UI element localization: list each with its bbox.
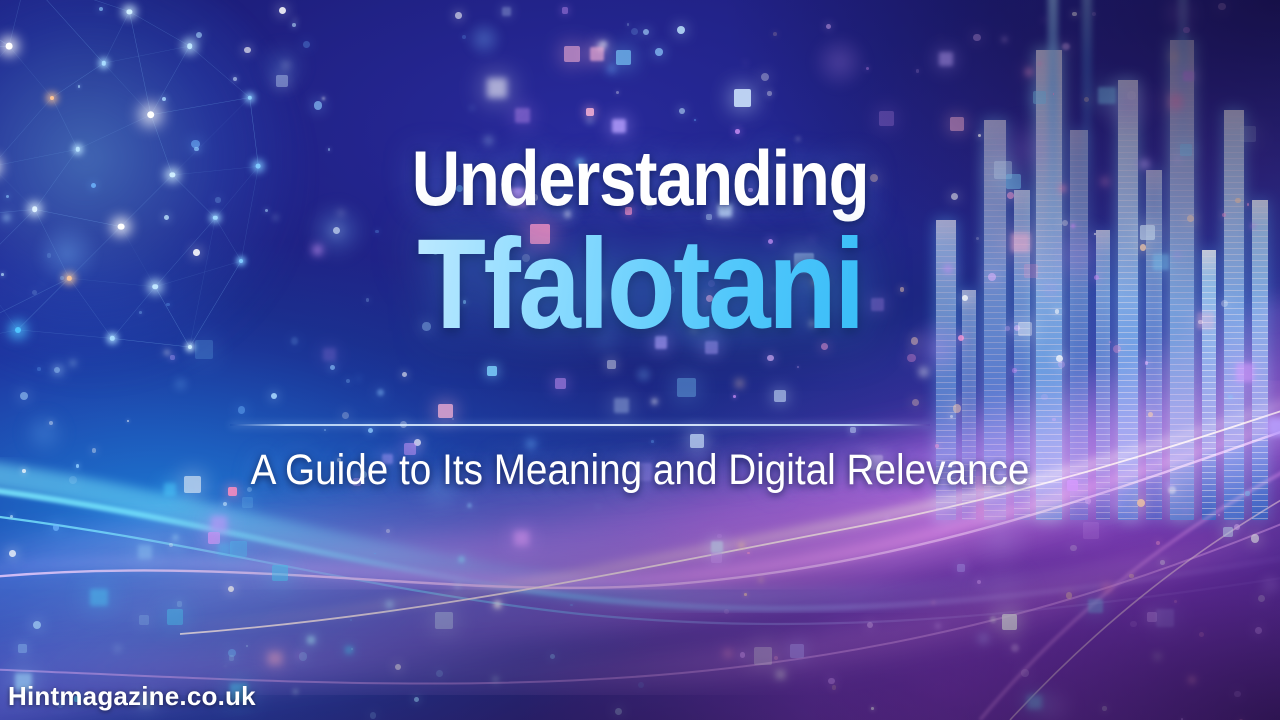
particle-dot bbox=[246, 645, 248, 647]
particle-dot bbox=[294, 690, 297, 693]
pixel-square bbox=[677, 378, 696, 397]
particle-dot bbox=[330, 365, 335, 370]
particle-dot bbox=[1102, 706, 1106, 710]
pixel-square bbox=[612, 119, 626, 133]
pixel-square bbox=[167, 609, 183, 625]
pixel-square bbox=[494, 601, 501, 608]
particle-dot bbox=[346, 379, 350, 383]
particle-dot bbox=[455, 12, 462, 19]
pixel-square bbox=[173, 535, 178, 540]
particle-dot bbox=[745, 62, 747, 64]
pixel-square bbox=[230, 541, 246, 557]
network-node bbox=[127, 9, 132, 14]
particle-dot bbox=[907, 354, 915, 362]
pixel-square bbox=[1083, 522, 1100, 539]
particle-dot bbox=[774, 656, 778, 660]
pixel-square bbox=[879, 111, 894, 126]
particle-dot bbox=[737, 381, 742, 386]
particle-dot bbox=[471, 107, 473, 109]
pixel-square bbox=[487, 366, 497, 376]
particle-dot bbox=[739, 543, 744, 548]
pixel-square bbox=[502, 7, 511, 16]
particle-dot bbox=[643, 29, 649, 35]
particle-dot bbox=[9, 550, 16, 557]
particle-dot bbox=[454, 583, 461, 590]
particle-dot bbox=[370, 712, 377, 719]
pixel-square bbox=[307, 636, 315, 644]
bokeh-blob bbox=[23, 412, 64, 453]
particle-dot bbox=[350, 619, 352, 621]
pixel-square bbox=[774, 390, 786, 402]
pixel-square bbox=[734, 89, 752, 107]
particle-dot bbox=[1251, 534, 1259, 542]
pixel-square bbox=[754, 647, 772, 665]
particle-dot bbox=[377, 389, 384, 396]
particle-dot bbox=[1255, 627, 1262, 634]
particle-dot bbox=[386, 601, 393, 608]
pixel-square bbox=[435, 612, 452, 629]
particle-dot bbox=[462, 35, 466, 39]
pixel-square bbox=[562, 7, 569, 14]
pixel-square bbox=[921, 369, 927, 375]
bokeh-blob bbox=[1031, 685, 1075, 720]
pixel-square bbox=[229, 655, 234, 660]
pixel-square bbox=[268, 652, 282, 666]
particle-dot bbox=[342, 412, 349, 419]
pixel-square bbox=[586, 108, 594, 116]
particle-dot bbox=[1130, 621, 1137, 628]
particle-dot bbox=[627, 23, 629, 25]
particle-dot bbox=[740, 652, 745, 657]
particle-dot bbox=[1156, 541, 1160, 545]
particle-dot bbox=[977, 580, 982, 585]
particle-dot bbox=[550, 654, 555, 659]
particle-dot bbox=[717, 534, 722, 539]
particle-dot bbox=[828, 678, 834, 684]
particle-dot bbox=[223, 502, 227, 506]
pixel-square bbox=[18, 644, 27, 653]
banner-image: Understanding Tfalotani A Guide to Its M… bbox=[0, 0, 1280, 720]
site-watermark: Hintmagazine.co.uk bbox=[8, 681, 256, 712]
particle-dot bbox=[436, 670, 443, 677]
pixel-square bbox=[487, 78, 507, 98]
pixel-square bbox=[515, 108, 530, 123]
pixel-square bbox=[211, 516, 227, 532]
particle-dot bbox=[631, 28, 638, 35]
pixel-square bbox=[1088, 599, 1103, 614]
pixel-square bbox=[297, 652, 303, 658]
particle-dot bbox=[832, 685, 836, 689]
network-node bbox=[101, 61, 105, 65]
particle-dot bbox=[826, 24, 831, 29]
particle-dot bbox=[228, 586, 234, 592]
pixel-square bbox=[1223, 527, 1233, 537]
particle-dot bbox=[1155, 654, 1160, 659]
particle-dot bbox=[916, 69, 919, 72]
pixel-square bbox=[616, 50, 631, 65]
particle-dot bbox=[597, 506, 599, 508]
pixel-square bbox=[564, 46, 580, 62]
network-node bbox=[6, 43, 13, 50]
title-block: Understanding Tfalotani bbox=[0, 140, 1280, 347]
bokeh-blob bbox=[633, 364, 654, 385]
particle-dot bbox=[744, 593, 747, 596]
particle-dot bbox=[747, 552, 750, 555]
pixel-square bbox=[957, 564, 965, 572]
particle-dot bbox=[467, 503, 472, 508]
particle-dot bbox=[724, 609, 729, 614]
subtitle-text: A Guide to Its Meaning and Digital Relev… bbox=[64, 446, 1216, 495]
particle-dot bbox=[1258, 595, 1265, 602]
pixel-square bbox=[139, 615, 149, 625]
particle-dot bbox=[351, 648, 353, 650]
network-node bbox=[187, 43, 193, 49]
particle-dot bbox=[368, 428, 373, 433]
particle-dot bbox=[22, 469, 26, 473]
particle-dot bbox=[1199, 632, 1204, 637]
pixel-square bbox=[438, 404, 453, 419]
particle-dot bbox=[493, 677, 498, 682]
particle-dot bbox=[616, 91, 619, 94]
bokeh-blob bbox=[169, 538, 187, 556]
particle-dot bbox=[395, 664, 402, 671]
particle-dot bbox=[169, 543, 173, 547]
particle-dot bbox=[886, 517, 889, 520]
particle-dot bbox=[1070, 545, 1077, 552]
pixel-square bbox=[138, 545, 153, 560]
particle-dot bbox=[238, 406, 245, 413]
particle-dot bbox=[127, 420, 129, 422]
bokeh-blob bbox=[1257, 572, 1280, 599]
particle-dot bbox=[1021, 669, 1029, 677]
pixel-square bbox=[790, 644, 804, 658]
particle-dot bbox=[458, 556, 465, 563]
particle-dot bbox=[386, 529, 390, 533]
pixel-square bbox=[711, 552, 722, 563]
particle-dot bbox=[271, 393, 277, 399]
light-beam bbox=[1178, 0, 1188, 160]
particle-dot bbox=[932, 601, 935, 604]
pixel-square bbox=[345, 646, 353, 654]
particle-dot bbox=[357, 377, 360, 380]
particle-dot bbox=[225, 665, 227, 667]
pixel-square bbox=[711, 541, 723, 553]
pixel-square bbox=[776, 670, 785, 679]
particle-dot bbox=[759, 578, 763, 582]
particle-dot bbox=[761, 73, 769, 81]
particle-dot bbox=[638, 682, 645, 689]
bokeh-blob bbox=[465, 20, 504, 59]
particle-dot bbox=[228, 649, 236, 657]
particle-dot bbox=[314, 101, 322, 109]
particle-dot bbox=[414, 439, 421, 446]
particle-dot bbox=[601, 41, 607, 47]
particle-dot bbox=[115, 646, 119, 650]
particle-dot bbox=[402, 372, 407, 377]
particle-dot bbox=[615, 708, 622, 715]
pixel-square bbox=[614, 398, 629, 413]
particle-dot bbox=[773, 32, 777, 36]
particle-dot bbox=[677, 26, 685, 34]
pixel-square bbox=[177, 601, 183, 607]
particle-dot bbox=[20, 392, 28, 400]
particle-dot bbox=[1129, 574, 1133, 578]
pixel-square bbox=[607, 360, 616, 369]
particle-dot bbox=[609, 66, 614, 71]
pixel-square bbox=[1027, 695, 1041, 709]
particle-dot bbox=[452, 418, 455, 421]
pixel-square bbox=[590, 47, 604, 61]
particle-dot bbox=[324, 429, 327, 432]
pixel-square bbox=[90, 589, 108, 607]
pixel-square bbox=[1156, 609, 1174, 627]
pixel-square bbox=[514, 531, 529, 546]
particle-dot bbox=[797, 366, 799, 368]
particle-dot bbox=[588, 119, 591, 122]
bokeh-blob bbox=[974, 563, 1034, 623]
particle-dot bbox=[1066, 592, 1072, 598]
particle-dot bbox=[767, 91, 771, 95]
particle-dot bbox=[1011, 644, 1019, 652]
particle-dot bbox=[655, 48, 662, 55]
particle-dot bbox=[694, 119, 696, 121]
pixel-square bbox=[1147, 612, 1157, 622]
particle-dot bbox=[1234, 524, 1240, 530]
particle-dot bbox=[414, 697, 419, 702]
title-divider bbox=[230, 424, 930, 426]
bokeh-blob bbox=[811, 33, 868, 90]
particle-dot bbox=[322, 97, 325, 100]
particle-dot bbox=[990, 616, 996, 622]
particle-dot bbox=[374, 553, 376, 555]
pixel-square bbox=[555, 378, 566, 389]
particle-dot bbox=[866, 67, 869, 70]
particle-dot bbox=[33, 621, 41, 629]
particle-dot bbox=[724, 650, 731, 657]
network-node bbox=[50, 96, 54, 100]
pixel-square bbox=[1002, 614, 1017, 629]
particle-dot bbox=[912, 399, 919, 406]
particle-dot bbox=[651, 440, 654, 443]
particle-dot bbox=[935, 623, 942, 630]
pixel-square bbox=[1103, 584, 1111, 592]
particle-dot bbox=[1189, 677, 1194, 682]
particle-dot bbox=[652, 399, 657, 404]
pixel-square bbox=[323, 348, 336, 361]
particle-dot bbox=[1174, 600, 1177, 603]
particle-dot bbox=[871, 707, 874, 710]
particle-dot bbox=[679, 108, 685, 114]
pixel-square bbox=[218, 543, 230, 555]
kicker-text: Understanding bbox=[90, 140, 1191, 216]
particle-dot bbox=[53, 524, 60, 531]
network-node bbox=[248, 95, 252, 99]
particle-dot bbox=[1160, 560, 1165, 565]
pixel-square bbox=[850, 427, 856, 433]
page-title: Tfalotani bbox=[77, 224, 1203, 347]
particle-dot bbox=[733, 395, 736, 398]
pixel-square bbox=[242, 497, 253, 508]
pixel-square bbox=[272, 565, 288, 581]
network-node bbox=[147, 111, 155, 119]
particle-dot bbox=[299, 652, 307, 660]
particle-dot bbox=[867, 622, 873, 628]
particle-dot bbox=[10, 515, 13, 518]
pixel-square bbox=[979, 634, 988, 643]
pixel-square bbox=[208, 532, 220, 544]
particle-dot bbox=[1234, 691, 1240, 697]
particle-dot bbox=[49, 421, 53, 425]
particle-dot bbox=[570, 604, 572, 606]
particle-dot bbox=[597, 42, 605, 50]
